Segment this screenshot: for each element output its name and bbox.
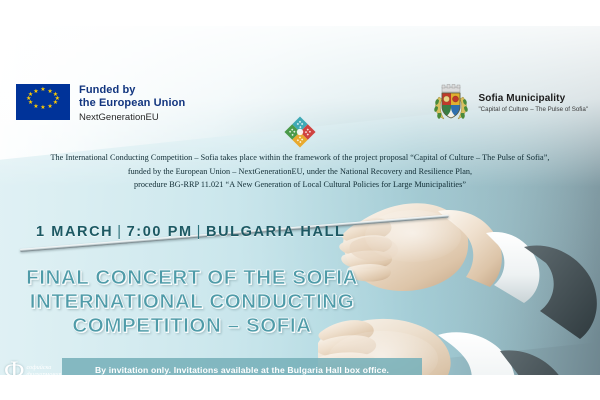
philharmonic-monogram-letter: Ф <box>4 358 25 375</box>
culture-diamond-icon <box>278 116 322 148</box>
invitation-info-band: By invitation only. Invitations availabl… <box>62 358 422 375</box>
event-venue: BULGARIA HALL <box>206 224 345 240</box>
eu-funding-logo: ★ ★ ★ ★ ★ ★ ★ ★ ★ ★ ★ ★ Funded by the Eu… <box>16 84 185 124</box>
philharmonic-line1: софийска <box>27 364 62 371</box>
event-details-line: 1 MARCH|7:00 PM|BULGARIA HALL <box>36 224 346 240</box>
philharmonic-monogram-icon: Ф софийска филхармония <box>4 356 66 375</box>
project-description: The International Conducting Competition… <box>0 151 600 192</box>
sofia-municipality-tagline: "Capital of Culture – The Pulse of Sofia… <box>478 106 588 114</box>
sofia-municipality-logo: Sofia Municipality "Capital of Culture –… <box>431 83 588 123</box>
eu-logo-line1: Funded by <box>79 84 185 97</box>
poster-title: FINAL CONCERT OF THE SOFIA INTERNATIONAL… <box>0 266 384 338</box>
event-date: 1 MARCH <box>36 224 113 240</box>
event-poster: ★ ★ ★ ★ ★ ★ ★ ★ ★ ★ ★ ★ Funded by the Eu… <box>0 26 600 375</box>
philharmonic-line2: филхармония <box>27 371 62 375</box>
invitation-info-text: By invitation only. Invitations availabl… <box>95 365 389 375</box>
poster-title-line1: FINAL CONCERT OF THE SOFIA <box>0 266 384 290</box>
project-text-line1: The International Conducting Competition… <box>8 151 592 165</box>
event-separator-2: | <box>197 224 202 240</box>
event-separator-1: | <box>117 224 122 240</box>
poster-title-line3: COMPETITION – SOFIA <box>0 314 384 338</box>
sofia-municipality-name: Sofia Municipality <box>478 93 588 104</box>
poster-title-line2: INTERNATIONAL CONDUCTING <box>0 290 384 314</box>
project-text-line3: procedure BG-RRP 11.021 “A New Generatio… <box>8 178 592 192</box>
eu-flag-icon: ★ ★ ★ ★ ★ ★ ★ ★ ★ ★ ★ ★ <box>16 84 70 120</box>
eu-logo-line2: the European Union <box>79 97 185 110</box>
sofia-coat-of-arms-icon <box>431 83 471 123</box>
eu-logo-line3: NextGenerationEU <box>79 111 185 124</box>
event-time: 7:00 PM <box>127 224 193 240</box>
project-text-line2: funded by the European Union – NextGener… <box>8 165 592 179</box>
